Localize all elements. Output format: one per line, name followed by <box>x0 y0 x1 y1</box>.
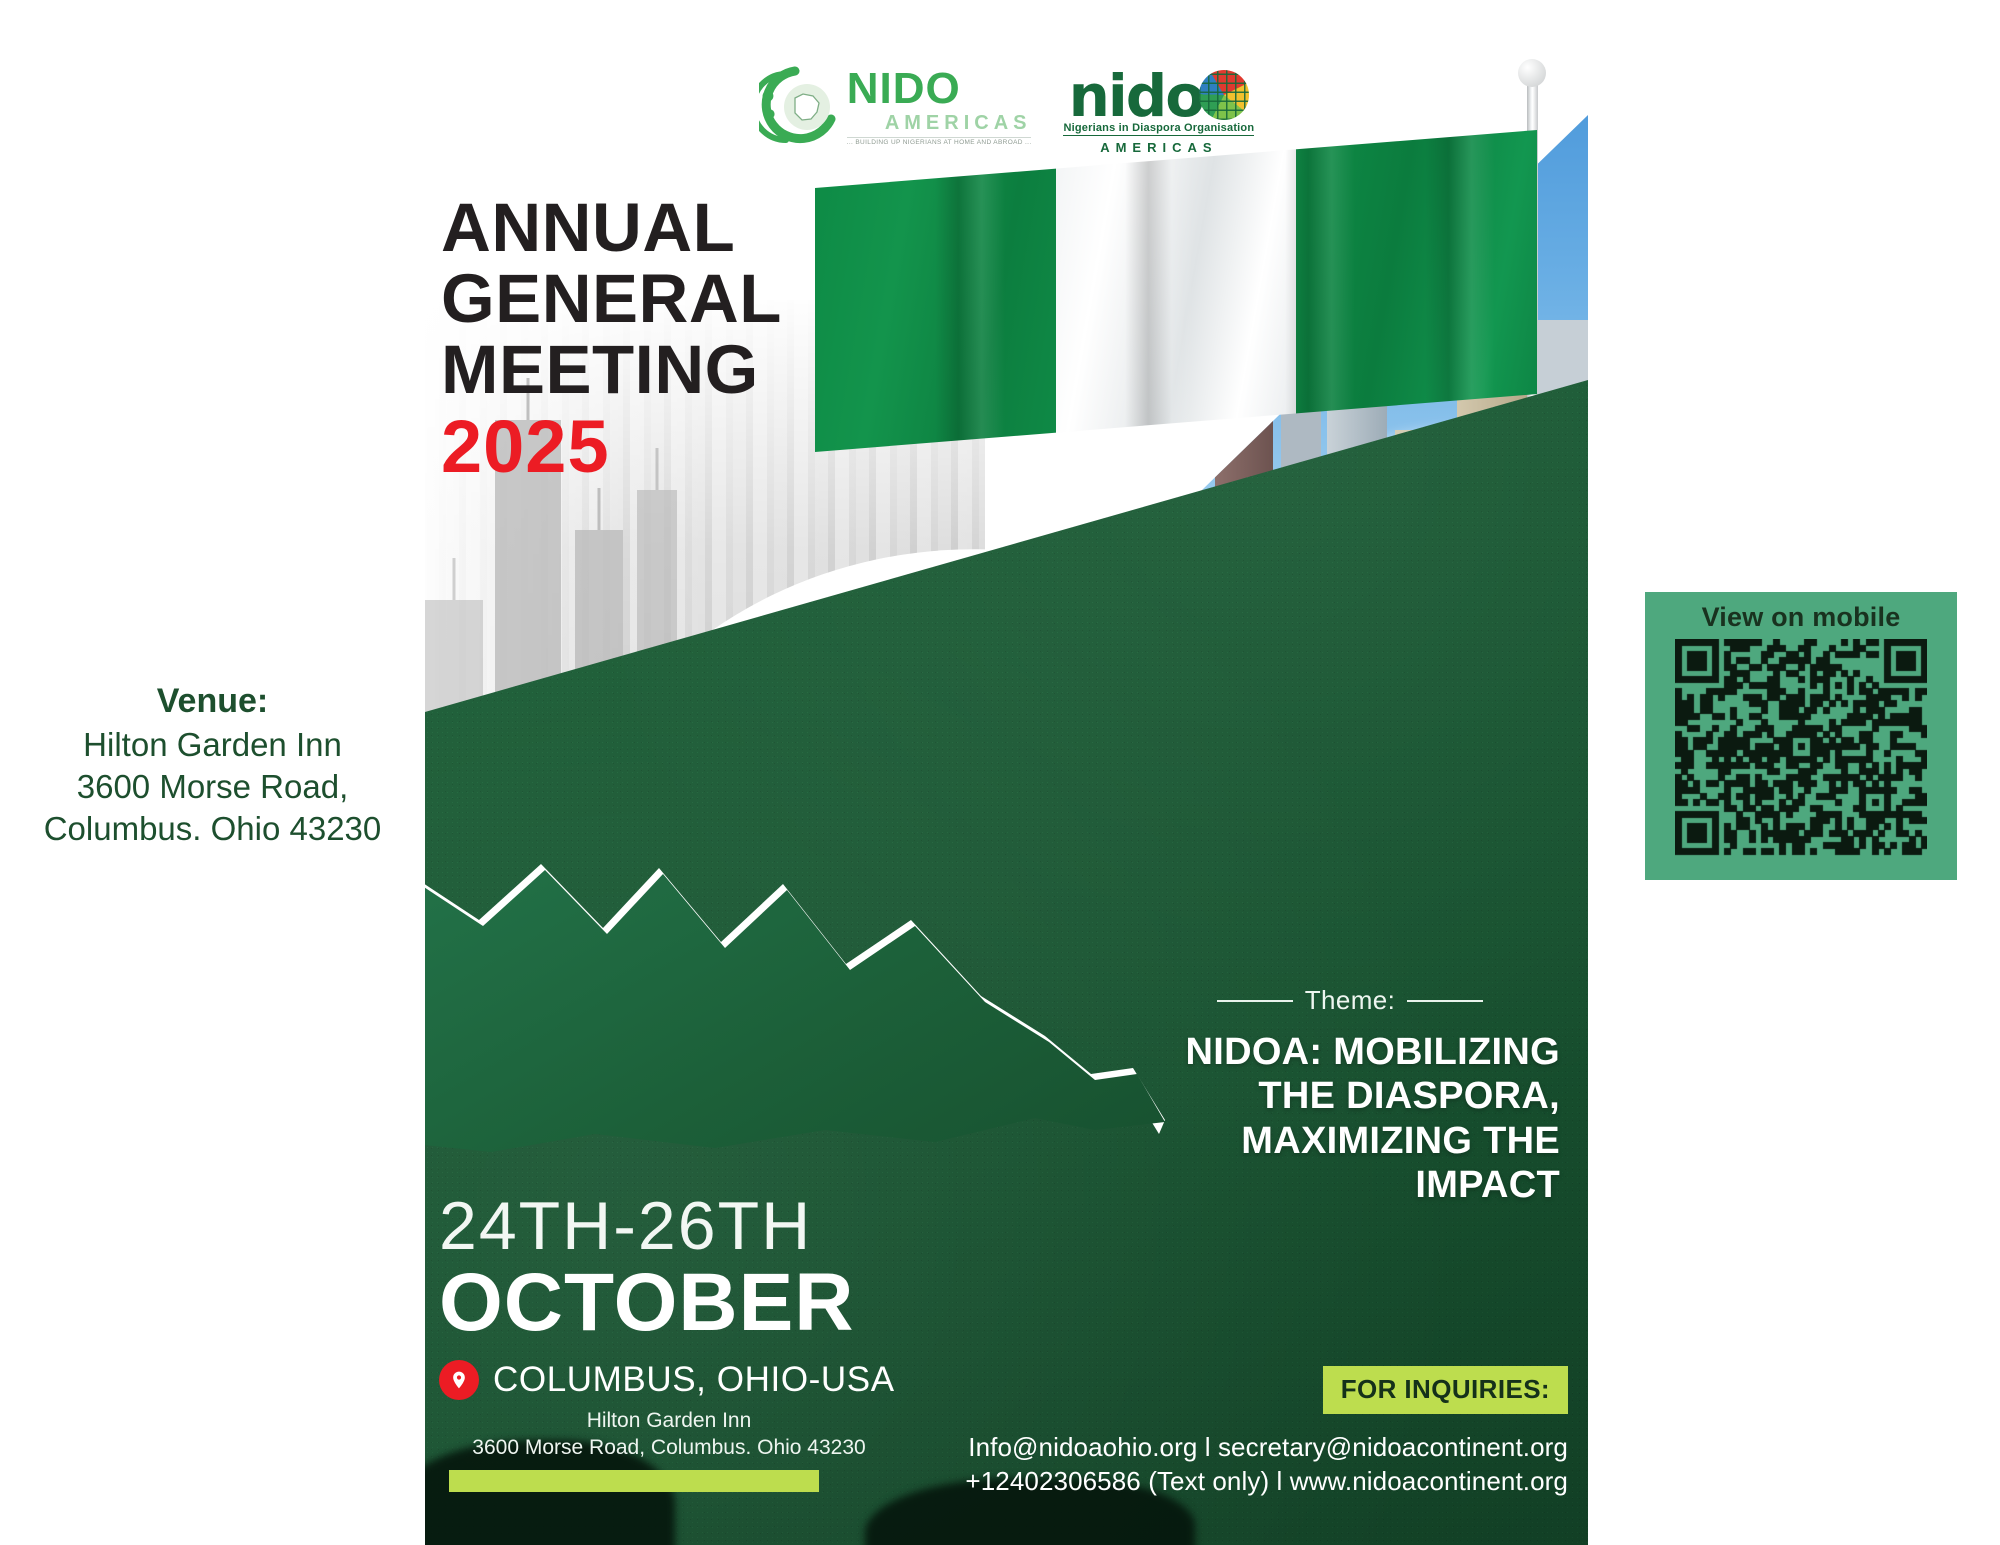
date-range: 24TH-26TH <box>439 1192 899 1260</box>
event-poster: NIDO AMERICAS ... BUILDING UP NIGERIANS … <box>425 0 1588 1545</box>
location-text: COLUMBUS, OHIO-USA <box>493 1360 895 1400</box>
theme-label: Theme: <box>1305 985 1396 1016</box>
title-line-2: GENERAL <box>441 266 782 332</box>
nido-globe-region: AMERICAS <box>1100 140 1217 155</box>
venue-line-3: Columbus. Ohio 43230 <box>0 808 425 850</box>
theme-rule-left <box>1217 1000 1293 1002</box>
venue-info-block: Venue: Hilton Garden Inn 3600 Morse Road… <box>0 680 425 850</box>
lime-accent-bar <box>449 1470 819 1492</box>
map-pin-icon <box>439 1360 479 1400</box>
date-month: OCTOBER <box>439 1262 899 1344</box>
title-line-1: ANNUAL <box>441 195 782 261</box>
theme-text: NIDOA: MOBILIZING THE DIASPORA, MAXIMIZI… <box>1140 1030 1560 1208</box>
nido-americas-tagline: ... BUILDING UP NIGERIANS AT HOME AND AB… <box>847 137 1032 147</box>
globe-icon <box>1199 70 1249 120</box>
venue-small-block: Hilton Garden Inn 3600 Morse Road, Colum… <box>439 1407 899 1462</box>
venue-title: Venue: <box>0 680 425 724</box>
venue-small-line-1: Hilton Garden Inn <box>439 1407 899 1434</box>
venue-line-2: 3600 Morse Road, <box>0 766 425 808</box>
flag-cloth <box>815 130 1537 452</box>
venue-line-1: Hilton Garden Inn <box>0 724 425 766</box>
nido-americas-wordmark: NIDO <box>847 67 1032 111</box>
qr-code-image[interactable] <box>1675 639 1927 857</box>
contact-phone-line: +12402306586 (Text only) l www.nidoacont… <box>965 1464 1568 1499</box>
theme-rule-right <box>1407 1000 1483 1002</box>
theme-block: Theme: NIDOA: MOBILIZING THE DIASPORA, M… <box>1140 985 1560 1208</box>
title-year: 2025 <box>441 410 782 484</box>
location-row: COLUMBUS, OHIO-USA <box>439 1360 899 1400</box>
view-on-mobile-panel[interactable]: View on mobile <box>1645 592 1957 880</box>
theme-header: Theme: <box>1140 985 1560 1016</box>
nido-americas-mark-icon <box>759 65 843 149</box>
logo-row: NIDO AMERICAS ... BUILDING UP NIGERIANS … <box>425 48 1588 166</box>
nido-globe-subtitle: Nigerians in Diaspora Organisation <box>1063 122 1254 136</box>
venue-small-line-2: 3600 Morse Road, Columbus. Ohio 43230 <box>439 1434 899 1461</box>
page-title: ANNUAL GENERAL MEETING 2025 <box>441 195 782 484</box>
date-block: 24TH-26TH OCTOBER COLUMBUS, OHIO-USA Hil… <box>439 1192 899 1492</box>
nido-organisation-logo: nido Nigerians in Diaspora Organisation … <box>1063 60 1254 155</box>
nido-americas-region: AMERICAS <box>847 113 1032 133</box>
nido-americas-logo: NIDO AMERICAS ... BUILDING UP NIGERIANS … <box>759 65 1032 149</box>
qr-panel-title: View on mobile <box>1645 592 1957 633</box>
inquiries-block: FOR INQUIRIES: Info@nidoaohio.org l secr… <box>965 1366 1568 1499</box>
contact-email-line: Info@nidoaohio.org l secretary@nidoacont… <box>965 1430 1568 1465</box>
title-line-3: MEETING <box>441 337 782 403</box>
nido-globe-wordmark: nido <box>1069 72 1204 121</box>
inquiries-badge: FOR INQUIRIES: <box>1323 1366 1568 1414</box>
